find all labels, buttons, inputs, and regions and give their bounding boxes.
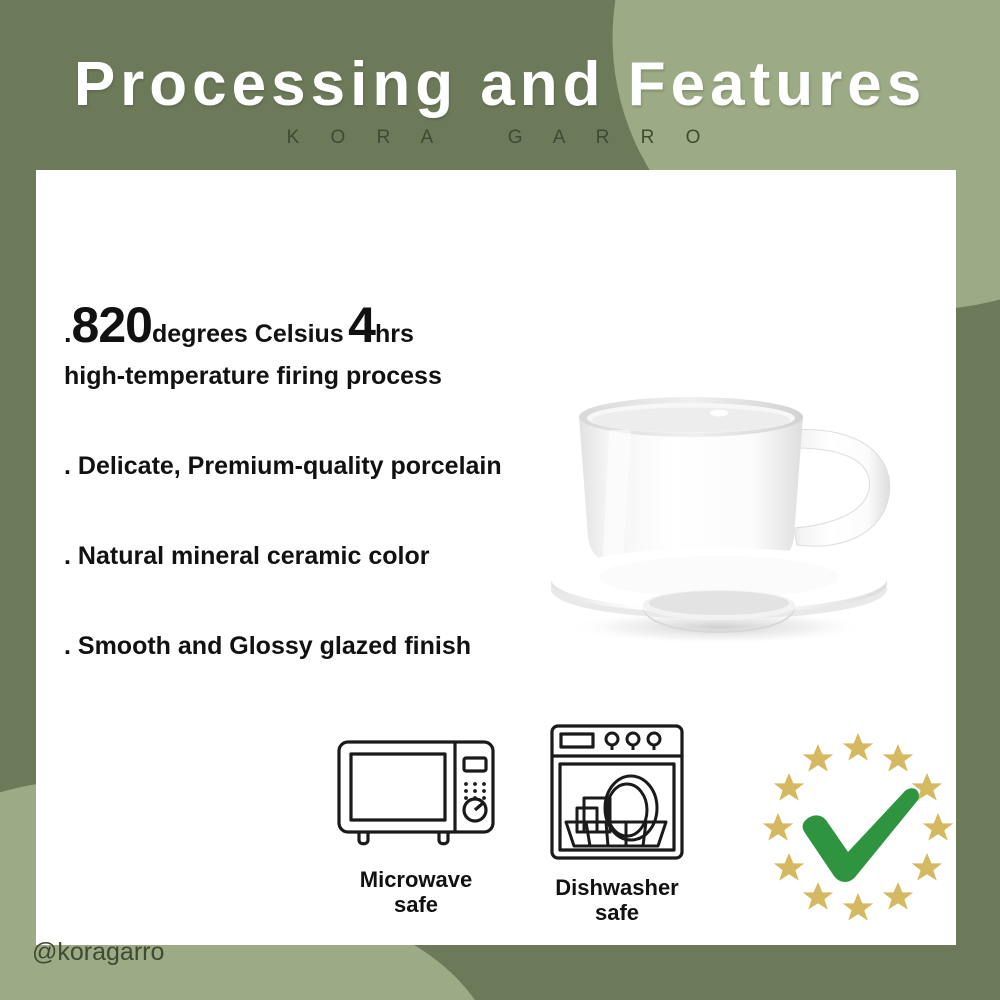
firing-duration-unit: hrs xyxy=(375,320,414,348)
dishwasher-icon xyxy=(542,720,692,865)
firing-temperature-value: 820 xyxy=(72,297,152,353)
badge-dishwasher-safe: Dishwasher safe xyxy=(522,720,712,925)
page-title: Processing and Features xyxy=(0,52,1000,117)
list-item-marker: . xyxy=(64,542,71,570)
badge-label-line1: Dishwasher xyxy=(522,876,712,901)
badge-label: Dishwasher safe xyxy=(522,876,712,925)
product-image-cup-and-saucer xyxy=(491,355,931,655)
content-card: .820degrees Celsius 4hrs high-temperatur… xyxy=(36,170,956,945)
list-item-label: Delicate, Premium-quality porcelain xyxy=(78,452,502,480)
feature-headline-marker: . xyxy=(64,318,72,348)
safety-badge-row: Microwave safe xyxy=(306,720,946,940)
firing-temperature-unit: degrees Celsius xyxy=(152,320,344,348)
watermark-handle: @koragarro xyxy=(32,938,164,967)
list-item-marker: . xyxy=(64,452,71,480)
header: Processing and Features K O R A G A R R … xyxy=(0,52,1000,149)
list-item-marker: . xyxy=(64,632,71,660)
badge-label-line1: Microwave xyxy=(326,868,506,893)
list-item-label: Smooth and Glossy glazed finish xyxy=(78,632,471,660)
badge-microwave-safe: Microwave safe xyxy=(326,732,506,917)
brand-name-first: K O R A xyxy=(287,127,446,148)
badge-label-line2: safe xyxy=(326,893,506,918)
list-item-label: Natural mineral ceramic color xyxy=(78,542,430,570)
brand-subtitle: K O R A G A R R O xyxy=(0,127,1000,149)
badge-label-line2: safe xyxy=(522,901,712,926)
eu-certified-checkmark-icon xyxy=(760,730,956,920)
badge-eu-certified xyxy=(758,730,958,931)
feature-headline: .820degrees Celsius 4hrs xyxy=(64,295,594,356)
microwave-icon xyxy=(331,732,501,857)
firing-duration-value: 4 xyxy=(348,297,375,353)
infographic-canvas: Processing and Features K O R A G A R R … xyxy=(0,0,1000,1000)
badge-label: Microwave safe xyxy=(326,868,506,917)
brand-name-second: G A R R O xyxy=(508,127,714,148)
